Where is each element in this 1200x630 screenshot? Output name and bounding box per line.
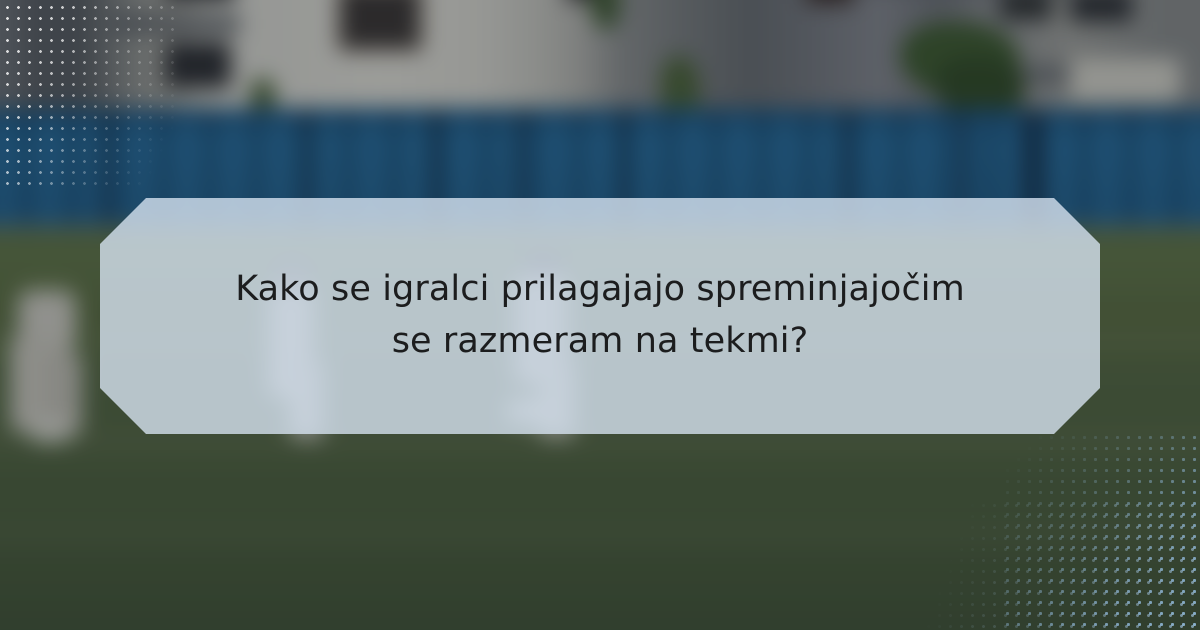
question-card: Kako se igralci prilagajajo spreminjajoč… <box>100 198 1100 434</box>
social-card-canvas: Kako se igralci prilagajajo spreminjajoč… <box>0 0 1200 630</box>
question-text: Kako se igralci prilagajajo spreminjajoč… <box>220 264 980 368</box>
